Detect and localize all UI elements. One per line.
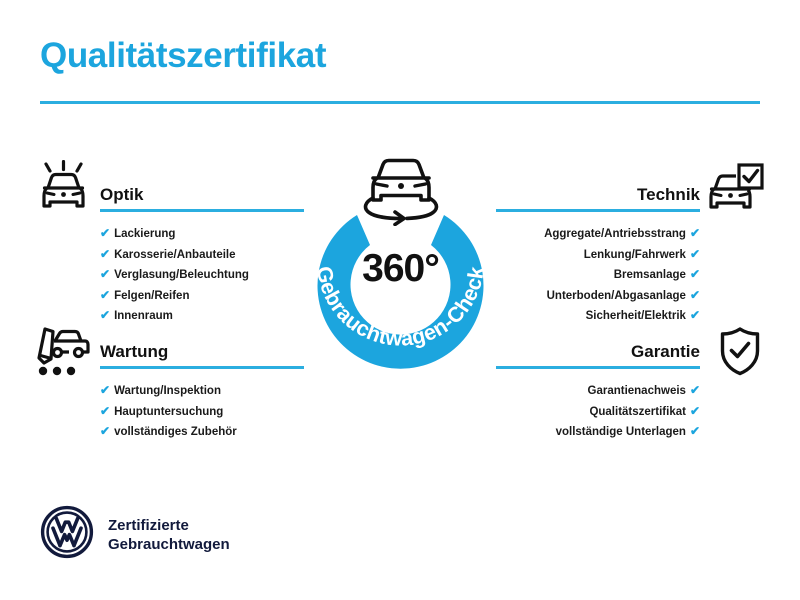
check-icon: ✔	[100, 288, 110, 302]
section-garantie-header: Garantie	[496, 340, 700, 370]
title-divider	[40, 101, 760, 104]
vw-certified-text: Zertifizierte Gebrauchtwagen	[108, 516, 230, 554]
section-wartung: Wartung ✔Wartung/Inspektion ✔Hauptunters…	[100, 340, 304, 443]
section-technik-title: Technik	[496, 183, 700, 207]
list-item-label: Karosserie/Anbauteile	[114, 249, 235, 261]
list-item-label: Hauptuntersuchung	[114, 406, 223, 418]
section-garantie: Garantie Garantienachweis✔ Qualitätszert…	[496, 340, 700, 443]
list-item: Aggregate/Antriebsstrang✔	[496, 224, 700, 245]
section-wartung-title: Wartung	[100, 340, 304, 364]
page-title: Qualitätszertifikat	[40, 36, 326, 76]
list-item-label: Qualitätszertifikat	[589, 406, 686, 418]
list-item: ✔Felgen/Reifen	[100, 286, 304, 307]
list-item-label: Lenkung/Fahrwerk	[584, 249, 686, 261]
car-shine-icon	[35, 160, 93, 219]
check-icon: ✔	[100, 404, 110, 418]
check-icon: ✔	[100, 267, 110, 281]
section-technik-divider	[496, 209, 700, 212]
section-optik-list: ✔Lackierung ✔Karosserie/Anbauteile ✔Verg…	[100, 224, 304, 327]
check-icon: ✔	[690, 288, 700, 302]
check-icon: ✔	[100, 247, 110, 261]
list-item: ✔Innenraum	[100, 306, 304, 327]
footer-line-2: Gebrauchtwagen	[108, 535, 230, 554]
check-icon: ✔	[100, 424, 110, 438]
car-rotate-360-icon	[355, 150, 447, 231]
section-wartung-list: ✔Wartung/Inspektion ✔Hauptuntersuchung ✔…	[100, 381, 304, 443]
section-optik-divider	[100, 209, 304, 212]
list-item: Bremsanlage✔	[496, 265, 700, 286]
list-item-label: Bremsanlage	[614, 269, 686, 281]
list-item: ✔Hauptuntersuchung	[100, 402, 304, 423]
list-item: Garantienachweis✔	[496, 381, 700, 402]
section-technik-header: Technik	[496, 183, 700, 213]
list-item-label: vollständige Unterlagen	[556, 426, 686, 438]
section-wartung-divider	[100, 366, 304, 369]
list-item-label: Verglasung/Beleuchtung	[114, 269, 249, 281]
vw-certified-lockup: Zertifizierte Gebrauchtwagen	[40, 505, 230, 564]
section-optik-header: Optik	[100, 183, 304, 213]
list-item: Sicherheit/Elektrik✔	[496, 306, 700, 327]
certificate-page: Qualitätszertifikat	[0, 0, 800, 600]
footer-line-1: Zertifizierte	[108, 516, 230, 535]
check-icon: ✔	[690, 424, 700, 438]
check-icon: ✔	[690, 308, 700, 322]
section-garantie-title: Garantie	[496, 340, 700, 364]
section-wartung-header: Wartung	[100, 340, 304, 370]
list-item: ✔Lackierung	[100, 224, 304, 245]
check-icon: ✔	[690, 247, 700, 261]
list-item-label: Felgen/Reifen	[114, 290, 189, 302]
section-optik: Optik ✔Lackierung ✔Karosserie/Anbauteile…	[100, 183, 304, 327]
check-icon: ✔	[690, 226, 700, 240]
list-item: ✔Verglasung/Beleuchtung	[100, 265, 304, 286]
list-item: ✔Karosserie/Anbauteile	[100, 245, 304, 266]
section-optik-title: Optik	[100, 183, 304, 207]
list-item-label: Sicherheit/Elektrik	[586, 310, 686, 322]
section-technik-list: Aggregate/Antriebsstrang✔ Lenkung/Fahrwe…	[496, 224, 700, 327]
check-icon: ✔	[100, 226, 110, 240]
list-item-label: Aggregate/Antriebsstrang	[544, 228, 686, 240]
list-item: vollständige Unterlagen✔	[496, 422, 700, 443]
shield-check-icon	[718, 326, 762, 381]
vw-logo-icon	[40, 505, 94, 564]
list-item: Lenkung/Fahrwerk✔	[496, 245, 700, 266]
car-checkbox-icon	[708, 163, 764, 220]
list-item: ✔vollständiges Zubehör	[100, 422, 304, 443]
list-item-label: Unterboden/Abgasanlage	[547, 290, 686, 302]
check-icon: ✔	[690, 383, 700, 397]
list-item-label: Lackierung	[114, 228, 175, 240]
list-item: Unterboden/Abgasanlage✔	[496, 286, 700, 307]
check-icon: ✔	[690, 404, 700, 418]
list-item-label: Innenraum	[114, 310, 173, 322]
list-item-label: Wartung/Inspektion	[114, 385, 221, 397]
badge-360-gebrauchtwagen-check: Gebrauchtwagen-Check 360°	[288, 150, 513, 375]
service-book-car-icon	[35, 325, 93, 384]
check-icon: ✔	[100, 383, 110, 397]
list-item: ✔Wartung/Inspektion	[100, 381, 304, 402]
list-item: Qualitätszertifikat✔	[496, 402, 700, 423]
check-icon: ✔	[690, 267, 700, 281]
list-item-label: vollständiges Zubehör	[114, 426, 237, 438]
list-item-label: Garantienachweis	[588, 385, 686, 397]
section-technik: Technik Aggregate/Antriebsstrang✔ Lenkun…	[496, 183, 700, 327]
section-garantie-divider	[496, 366, 700, 369]
section-garantie-list: Garantienachweis✔ Qualitätszertifikat✔ v…	[496, 381, 700, 443]
badge-center-label: 360°	[288, 247, 513, 291]
check-icon: ✔	[100, 308, 110, 322]
